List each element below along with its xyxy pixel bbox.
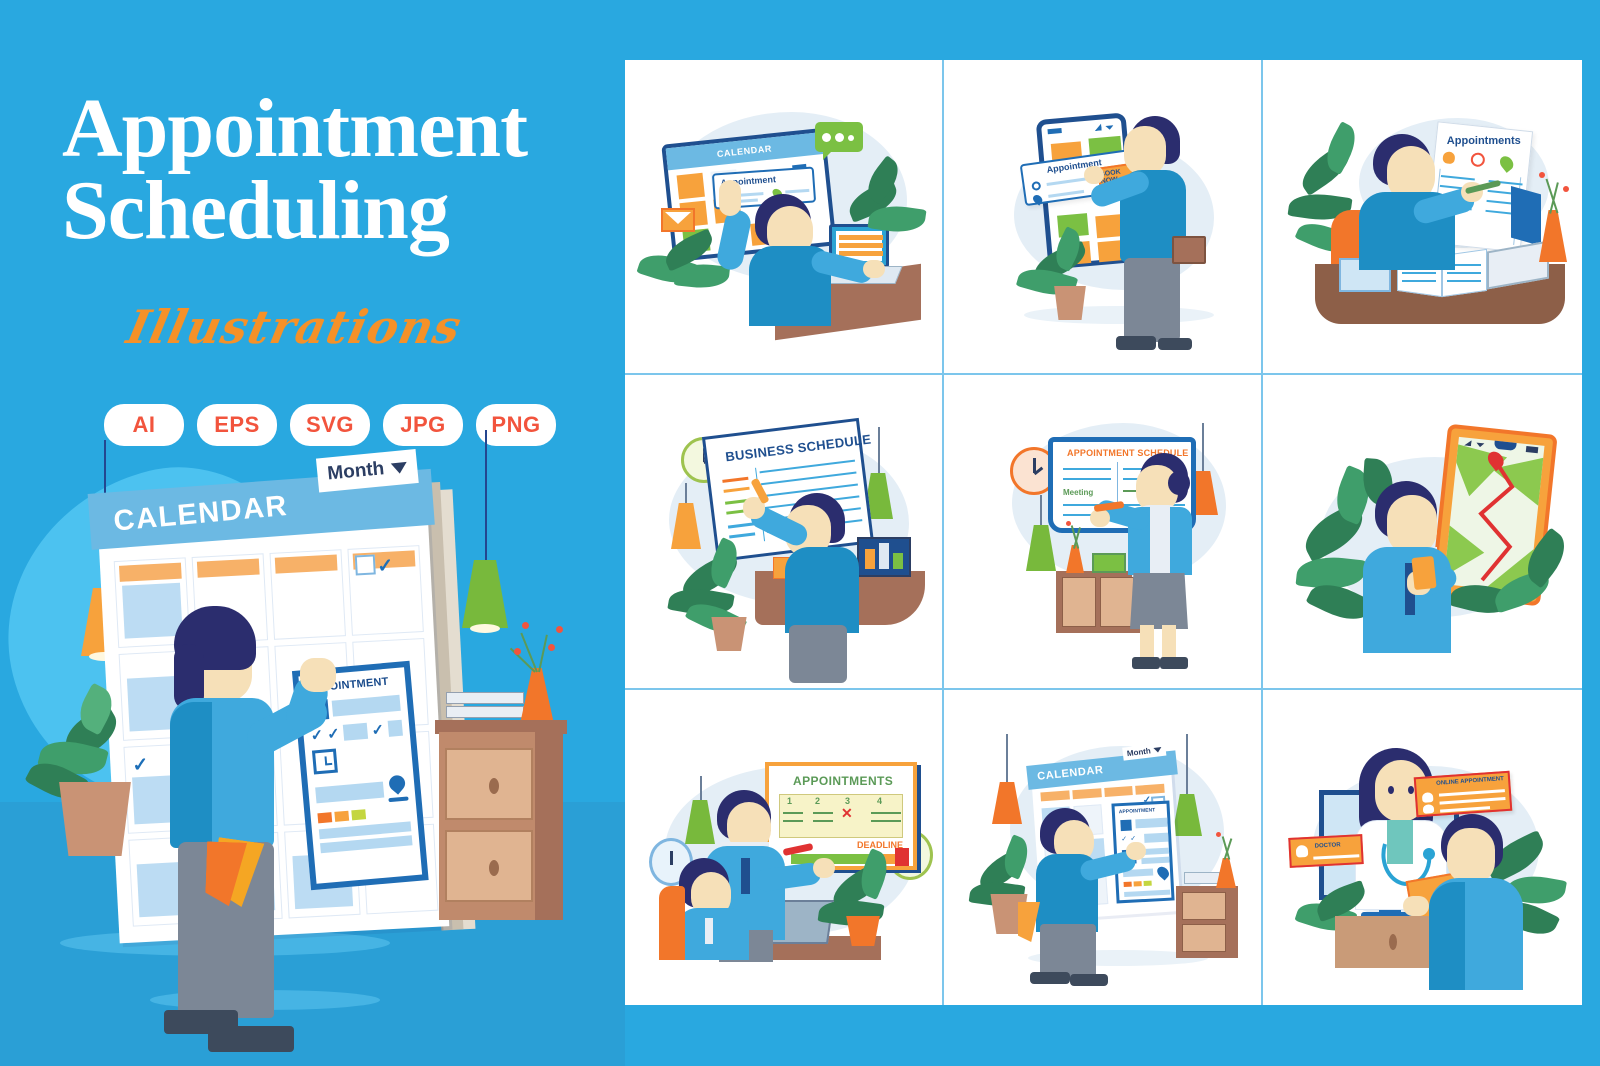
head bbox=[1387, 495, 1437, 555]
leg bbox=[1140, 625, 1154, 661]
vest bbox=[1429, 882, 1465, 990]
head bbox=[1447, 828, 1495, 884]
page-title-line1: Appointment bbox=[62, 88, 602, 170]
torso bbox=[785, 547, 859, 633]
title-block: Appointment Scheduling bbox=[62, 88, 602, 253]
month-dropdown-label: Month bbox=[326, 458, 385, 485]
chevron-down-icon bbox=[1153, 747, 1162, 753]
phone-in-hand bbox=[1411, 556, 1436, 590]
berry bbox=[1539, 172, 1545, 178]
avatar-icon bbox=[1296, 845, 1309, 858]
hand bbox=[813, 858, 835, 878]
cabinet-door bbox=[1100, 577, 1134, 627]
lamp-cord bbox=[485, 430, 487, 562]
illustration-cell-4[interactable]: BUSINESS SCHEDULE bbox=[625, 375, 944, 690]
cardigan bbox=[1170, 507, 1192, 575]
legs bbox=[1124, 258, 1180, 342]
online-appointment-card[interactable]: ONLINE APPOINTMENT bbox=[1414, 771, 1513, 818]
illustration-cell-3[interactable]: Appointments bbox=[1263, 60, 1582, 375]
document-back-page bbox=[1511, 186, 1541, 246]
green-pendant-lamp-icon bbox=[462, 560, 508, 628]
shoe bbox=[1070, 974, 1108, 986]
cabinet-door bbox=[1062, 577, 1096, 627]
plant-pot bbox=[709, 617, 749, 651]
hair-bun bbox=[1168, 471, 1190, 495]
field-placeholder bbox=[340, 747, 404, 753]
torso bbox=[677, 908, 749, 960]
illustration-grid: CALENDAR Appointment bbox=[625, 60, 1582, 1005]
field-placeholder bbox=[340, 743, 404, 749]
cell7-col-2: 2 bbox=[815, 796, 820, 806]
illustration-cell-9[interactable]: ONLINE APPOINTMENT DOCTOR bbox=[1263, 690, 1582, 1005]
location-pin-icon bbox=[1155, 864, 1171, 880]
shoe bbox=[1030, 972, 1070, 984]
legs bbox=[789, 625, 847, 683]
illustration-cell-8[interactable]: CALENDAR Month bbox=[944, 690, 1263, 1005]
skirt bbox=[1130, 573, 1188, 629]
left-hero-panel: Appointment Scheduling Illustrations AI … bbox=[0, 0, 625, 1066]
illustration-cell-6[interactable] bbox=[1263, 375, 1582, 690]
cabinet-knob bbox=[1389, 934, 1397, 950]
illustration-pack-preview: { "theme": { "background": "#29a8e0", "p… bbox=[0, 0, 1600, 1066]
subtitle-illustrations: Illustrations bbox=[122, 300, 466, 354]
orange-vase bbox=[1539, 210, 1567, 262]
page-title-line2: Scheduling bbox=[62, 170, 602, 252]
chevron-down-icon bbox=[391, 461, 408, 473]
wooden-cabinet bbox=[435, 720, 567, 920]
cell5-label-meeting: Meeting bbox=[1063, 488, 1093, 497]
shoe bbox=[1160, 657, 1188, 669]
shoe bbox=[208, 1026, 294, 1052]
illustration-cell-2[interactable]: Appointment BOOK NOW bbox=[944, 60, 1263, 375]
hand bbox=[1090, 509, 1110, 527]
cell8-label-calendar: CALENDAR bbox=[1037, 764, 1104, 783]
cell3-label-appointments: Appointments bbox=[1447, 135, 1521, 147]
cabinet-drawer bbox=[1182, 924, 1226, 952]
wifi-icon bbox=[1105, 122, 1114, 130]
berry bbox=[1563, 186, 1569, 192]
head bbox=[1124, 126, 1166, 176]
cell9-label-online-appointment: ONLINE APPOINTMENT bbox=[1436, 776, 1504, 787]
deadline-flag bbox=[895, 848, 909, 866]
cell9-label-doctor: DOCTOR bbox=[1315, 842, 1341, 849]
envelope-icon bbox=[661, 208, 695, 232]
person-pointing-at-calendar bbox=[140, 590, 340, 1060]
collar bbox=[705, 918, 713, 944]
desk-calendar bbox=[1092, 553, 1126, 573]
illustration-cell-7[interactable]: APPOINTMENTS 1 2 3 4 ✕ DEADLINE bbox=[625, 690, 944, 1005]
cell7-col-4: 4 bbox=[877, 796, 882, 806]
orange-pendant-lamp-icon bbox=[992, 782, 1022, 824]
cross-mark-icon: ✕ bbox=[841, 806, 853, 820]
cell8-label-appointment: APPOINTMENT bbox=[1119, 807, 1156, 815]
hand-pointing bbox=[300, 658, 336, 692]
field-placeholder bbox=[343, 723, 368, 741]
hand bbox=[719, 180, 741, 216]
hand bbox=[1126, 842, 1146, 860]
clock-icon bbox=[1031, 181, 1041, 191]
avatar-icon bbox=[1423, 804, 1435, 814]
cell7-label-appointments: APPOINTMENTS bbox=[793, 774, 893, 788]
monitor-chart[interactable] bbox=[857, 537, 911, 577]
chat-bubble-icon bbox=[815, 122, 863, 152]
leg bbox=[1162, 625, 1176, 661]
hand bbox=[1403, 896, 1429, 916]
books bbox=[1184, 872, 1220, 884]
illustration-cell-1[interactable]: CALENDAR Appointment bbox=[625, 60, 944, 375]
avatar-icon bbox=[1120, 820, 1132, 832]
cabinet-drawer bbox=[1182, 892, 1226, 920]
office-chair bbox=[659, 886, 685, 960]
illustration-grid-panel: CALENDAR Appointment bbox=[625, 60, 1582, 1005]
avatar-icon bbox=[1422, 792, 1434, 803]
location-pin-icon bbox=[1497, 154, 1516, 173]
hero-illustration: ✓ ✓ CALENDAR Month bbox=[0, 430, 625, 1066]
calendar-cell[interactable]: ✓ bbox=[347, 545, 423, 636]
color-chip bbox=[351, 809, 366, 820]
field-placeholder bbox=[332, 695, 401, 717]
check-icon: ✓ bbox=[371, 720, 385, 739]
shoe bbox=[1158, 338, 1192, 350]
check-icon: ✓ bbox=[1121, 835, 1127, 843]
hand bbox=[1084, 166, 1104, 184]
signal-icon bbox=[1094, 124, 1102, 132]
avatar-icon bbox=[1442, 151, 1455, 164]
lamp-glow bbox=[470, 624, 500, 633]
battery-icon bbox=[1526, 446, 1539, 453]
cell8-label-month: Month bbox=[1126, 746, 1151, 758]
books-stack bbox=[446, 692, 524, 722]
cell7-col-1: 1 bbox=[787, 796, 792, 806]
location-pin-icon bbox=[1031, 193, 1044, 205]
eye bbox=[1408, 786, 1414, 794]
tie bbox=[741, 858, 750, 894]
briefcase bbox=[1172, 236, 1206, 264]
hand bbox=[863, 260, 885, 278]
shoe bbox=[1116, 336, 1156, 350]
cell1-label-calendar: CALENDAR bbox=[716, 143, 772, 159]
vest bbox=[170, 702, 212, 848]
doctor-card[interactable]: DOCTOR bbox=[1288, 834, 1363, 868]
eye bbox=[1388, 786, 1394, 794]
calendar-title: CALENDAR bbox=[112, 489, 289, 538]
illustration-cell-5[interactable]: APPOINTMENT SCHEDULE Meeting bbox=[944, 375, 1263, 690]
shoe bbox=[1132, 657, 1160, 669]
location-pin-icon bbox=[386, 774, 408, 802]
clock-icon bbox=[1470, 152, 1485, 167]
field-placeholder bbox=[387, 720, 403, 737]
orange-vase bbox=[520, 668, 554, 724]
plant-pot bbox=[56, 782, 134, 856]
